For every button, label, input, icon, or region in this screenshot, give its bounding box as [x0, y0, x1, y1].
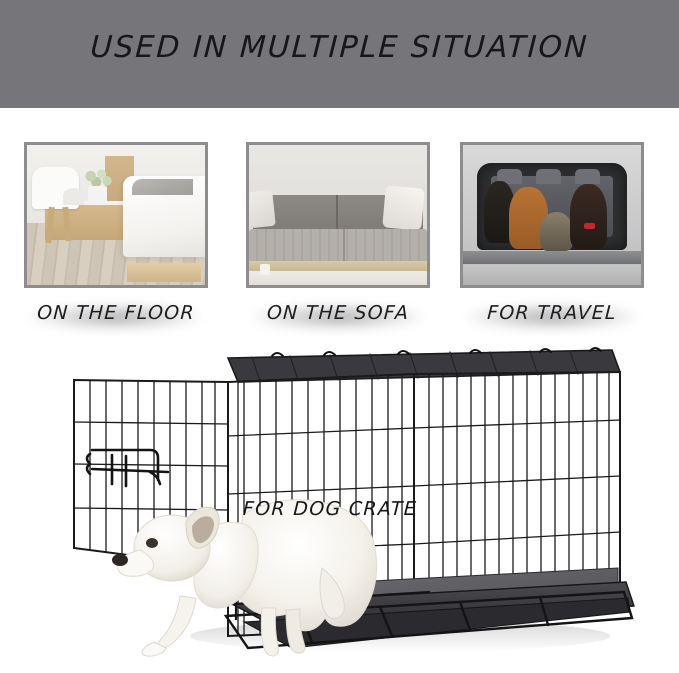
- dog-eye: [146, 538, 158, 548]
- table-lamp: [63, 188, 84, 205]
- floor-cup: [260, 264, 271, 275]
- dog-rear-leg-1: [261, 608, 278, 656]
- throw-pillow-right: [383, 185, 426, 230]
- gray-blanket: [132, 179, 193, 196]
- photo-card-for-travel: [460, 142, 644, 288]
- caption-text: ON THE FLOOR: [37, 302, 196, 324]
- dog-nose: [112, 554, 128, 566]
- caption-text: FOR TRAVEL: [487, 302, 618, 324]
- caption-on-the-sofa: ON THE SOFA: [237, 302, 438, 324]
- photo-on-the-sofa: [249, 145, 427, 285]
- sofa-seat-seam: [343, 229, 345, 263]
- sofa-wood-base: [249, 261, 427, 271]
- dog-terrier: [540, 212, 574, 251]
- car-bumper: [463, 251, 641, 264]
- caption-text: ON THE SOFA: [266, 302, 409, 324]
- sofa-seat-cushions: [249, 229, 427, 263]
- caption-for-travel: FOR TRAVEL: [451, 302, 652, 324]
- caption-for-dog-crate: FOR DOG CRATE: [242, 498, 417, 520]
- dog-red-collar: [584, 223, 595, 229]
- car-lower-panel: [463, 265, 641, 285]
- infographic-page: USED IN MULTIPLE SITUATION: [0, 0, 679, 673]
- door-latch-icon[interactable]: [87, 450, 168, 486]
- caption-on-the-floor: ON THE FLOOR: [15, 302, 216, 324]
- photo-card-on-the-sofa: [246, 142, 430, 288]
- photo-card-on-the-floor: [24, 142, 208, 288]
- living-room-floor: [249, 271, 427, 285]
- bed-wooden-base: [127, 263, 202, 283]
- headrest-2: [536, 169, 561, 184]
- plant-pot: [88, 186, 108, 206]
- headrest-3: [575, 169, 600, 184]
- header-banner: USED IN MULTIPLE SITUATION: [0, 0, 679, 108]
- throw-pillow-left: [247, 190, 276, 229]
- scenario-photo-row: [0, 140, 679, 290]
- crate-roof: [228, 348, 620, 382]
- dog-chocolate-labrador: [570, 184, 607, 248]
- photo-for-travel: [463, 145, 641, 285]
- photo-on-the-floor: [27, 145, 205, 285]
- dog-front-leg: [158, 596, 196, 648]
- page-title: USED IN MULTIPLE SITUATION: [0, 30, 679, 65]
